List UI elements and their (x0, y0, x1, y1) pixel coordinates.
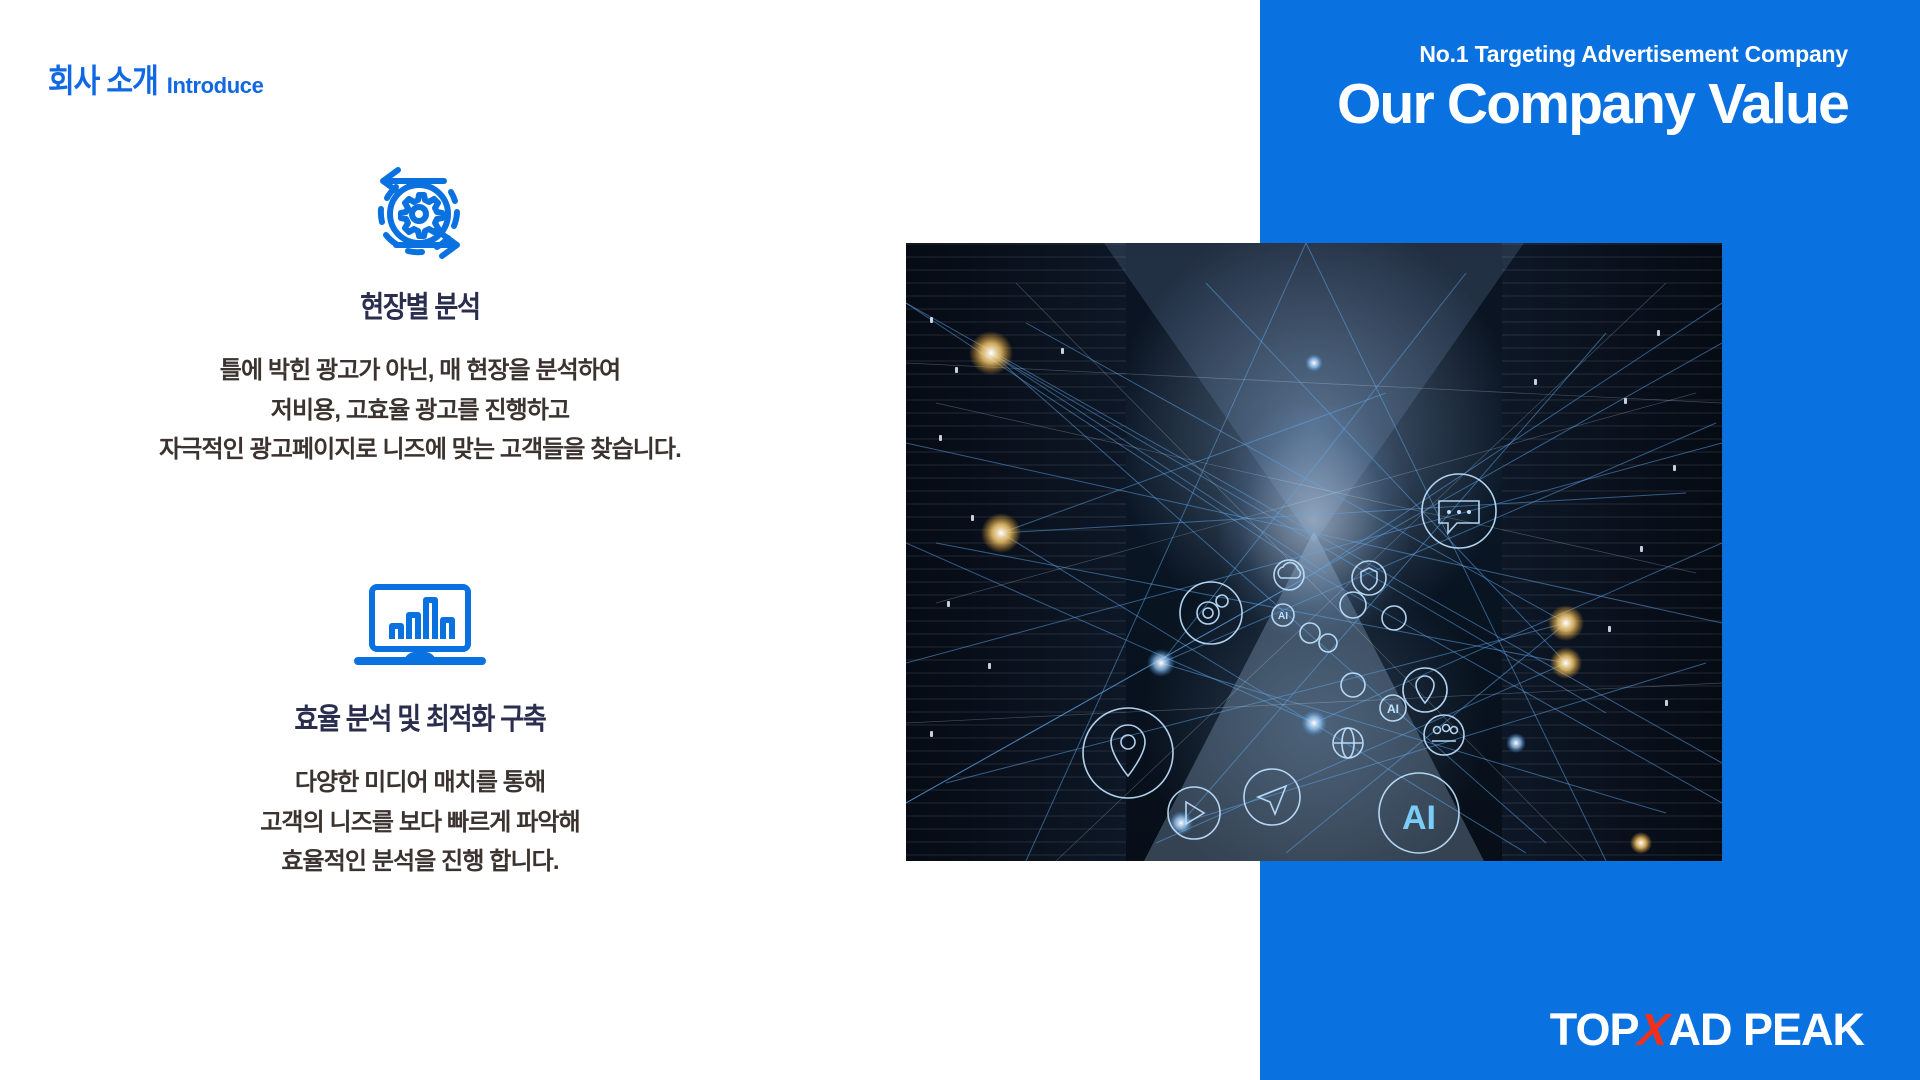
page-title: Our Company Value (1337, 73, 1848, 137)
gear-cycle-icon (0, 160, 840, 266)
svg-text:AI: AI (1387, 702, 1399, 716)
logo-x-mark: X (1636, 1004, 1671, 1056)
send-icon (1244, 769, 1300, 825)
node-chip-icon (1341, 673, 1365, 697)
laptop-bar-chart-icon (0, 572, 840, 678)
hero-image-data-center-network: AI AI AI (906, 243, 1722, 861)
section-label: 회사 소개 Introduce (48, 60, 263, 102)
feature-body-line: 자극적인 광고페이지로 니즈에 맞는 고객들을 찾습니다. (0, 430, 840, 470)
brand-logo: TOP X AD PEAK (1550, 1004, 1864, 1056)
node-chip-icon (1319, 634, 1337, 652)
feature-block-2: 효율 분석 및 최적화 구축 다양한 미디어 매치를 통해 고객의 니즈를 보다… (0, 572, 840, 882)
feature-body-line: 고객의 니즈를 보다 빠르게 파악해 (0, 803, 840, 843)
header-eyebrow: No.1 Targeting Advertisement Company (1337, 42, 1848, 67)
network-overlay: AI AI AI (906, 243, 1722, 861)
svg-text:AI: AI (1402, 799, 1436, 837)
svg-text:AI: AI (1278, 611, 1288, 622)
feature-body: 틀에 박힌 광고가 아닌, 매 현장을 분석하여 저비용, 고효율 광고를 진행… (0, 351, 840, 470)
logo-part-adpeak: AD PEAK (1668, 1004, 1864, 1056)
feature-title: 현장별 분석 (0, 284, 840, 326)
node-chip-icon (1340, 592, 1366, 618)
location-pin-icon (1083, 708, 1173, 798)
feature-body-line: 효율적인 분석을 진행 합니다. (0, 842, 840, 882)
feature-body: 다양한 미디어 매치를 통해 고객의 니즈를 보다 빠르게 파악해 효율적인 분… (0, 763, 840, 882)
node-chip-icon (1300, 623, 1320, 643)
location-pin-icon (1403, 668, 1447, 712)
logo-part-top: TOP (1550, 1004, 1639, 1056)
header-block: No.1 Targeting Advertisement Company Our… (1337, 42, 1848, 137)
feature-body-line: 틀에 박힌 광고가 아닌, 매 현장을 분석하여 (0, 351, 840, 391)
feature-block-1: 현장별 분석 틀에 박힌 광고가 아닌, 매 현장을 분석하여 저비용, 고효율… (0, 160, 840, 470)
feature-body-line: 저비용, 고효율 광고를 진행하고 (0, 391, 840, 431)
feature-title: 효율 분석 및 최적화 구축 (0, 696, 840, 738)
gear-icon (1180, 582, 1242, 644)
section-label-korean: 회사 소개 (48, 55, 158, 102)
section-label-english: Introduce (167, 73, 264, 99)
feature-body-line: 다양한 미디어 매치를 통해 (0, 763, 840, 803)
